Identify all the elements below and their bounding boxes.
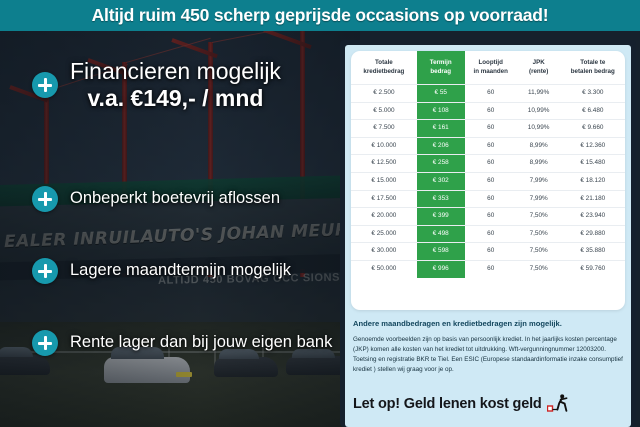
table-cell: € 50.000 (351, 260, 417, 277)
table-cell: 7,50% (517, 260, 561, 277)
table-cell: 7,50% (517, 225, 561, 243)
table-row: € 20.000€ 399607,50%€ 23.940 (351, 208, 625, 226)
table-cell: € 258 (417, 155, 465, 173)
table-cell: 7,99% (517, 172, 561, 190)
benefits-list: Financieren mogelijk v.a. €149,- / mnd O… (0, 31, 348, 427)
table-cell: € 206 (417, 137, 465, 155)
finance-panel-inner: Totalekredietbedrag Termijnbedrag Loopti… (345, 45, 631, 427)
benefit-item-2: Lagere maandtermijn mogelijk (32, 258, 291, 284)
benefit-label: Onbeperkt boetevrij aflossen (70, 189, 280, 208)
table-cell: 60 (465, 225, 517, 243)
benefit-item-1: Onbeperkt boetevrij aflossen (32, 186, 280, 212)
table-cell: € 7.500 (351, 120, 417, 138)
hero-line-2: v.a. €149,- / mnd (70, 85, 281, 112)
disclaimer-body: Genoemde voorbeelden zijn op basis van p… (353, 335, 625, 376)
headline-text: Altijd ruim 450 scherp geprijsde occasio… (92, 5, 549, 26)
table-cell: 60 (465, 208, 517, 226)
credit-warning: Let op! Geld lenen kost geld (353, 394, 625, 413)
col-header-total-payable: Totale tebetalen bedrag (561, 51, 625, 84)
table-cell: 60 (465, 243, 517, 261)
credit-warning-text: Let op! Geld lenen kost geld (353, 396, 542, 412)
table-row: € 7.500€ 1616010,99%€ 9.660 (351, 120, 625, 138)
table-cell: 11,99% (517, 84, 561, 102)
hero-benefit: Financieren mogelijk v.a. €149,- / mnd (32, 58, 281, 112)
benefit-label: Lagere maandtermijn mogelijk (70, 261, 291, 280)
table-cell: € 15.000 (351, 172, 417, 190)
benefit-label: Rente lager dan bij jouw eigen bank (70, 333, 332, 352)
table-cell: € 161 (417, 120, 465, 138)
table-cell: 7,50% (517, 243, 561, 261)
table-row: € 12.500€ 258608,99%€ 15.480 (351, 155, 625, 173)
table-cell: 60 (465, 190, 517, 208)
table-cell: € 30.000 (351, 243, 417, 261)
table-row: € 17.500€ 353607,99%€ 21.180 (351, 190, 625, 208)
table-cell: € 6.480 (561, 102, 625, 120)
table-cell: € 598 (417, 243, 465, 261)
table-cell: € 302 (417, 172, 465, 190)
table-cell: 60 (465, 155, 517, 173)
table-row: € 5.000€ 1086010,99%€ 6.480 (351, 102, 625, 120)
table-cell: 60 (465, 120, 517, 138)
table-cell: 7,99% (517, 190, 561, 208)
table-cell: € 23.940 (561, 208, 625, 226)
table-cell: 10,99% (517, 120, 561, 138)
table-cell: € 12.500 (351, 155, 417, 173)
table-cell: 60 (465, 137, 517, 155)
rate-table-body: € 2.500€ 556011,99%€ 3.300€ 5.000€ 10860… (351, 84, 625, 277)
table-cell: € 59.760 (561, 260, 625, 277)
plus-icon (32, 72, 58, 98)
table-cell: 60 (465, 172, 517, 190)
table-cell: € 5.000 (351, 102, 417, 120)
table-cell: € 9.660 (561, 120, 625, 138)
benefit-item-3: Rente lager dan bij jouw eigen bank (32, 330, 332, 356)
disclaimer-block: Andere maandbedragen en kredietbedragen … (353, 319, 625, 376)
plus-icon (32, 258, 58, 284)
table-cell: 8,99% (517, 137, 561, 155)
hero-benefit-text: Financieren mogelijk v.a. €149,- / mnd (70, 58, 281, 112)
table-row: € 50.000€ 996607,50%€ 59.760 (351, 260, 625, 277)
table-header-row: Totalekredietbedrag Termijnbedrag Loopti… (351, 51, 625, 84)
ad-banner-root: EALER INRUILAUTO'S JOHAN MEURE ALTIJD 45… (0, 0, 640, 427)
table-cell: 10,99% (517, 102, 561, 120)
table-cell: € 18.120 (561, 172, 625, 190)
finance-panel: Totalekredietbedrag Termijnbedrag Loopti… (340, 40, 636, 427)
table-cell: € 55 (417, 84, 465, 102)
table-cell: € 3.300 (561, 84, 625, 102)
table-row: € 15.000€ 302607,99%€ 18.120 (351, 172, 625, 190)
table-row: € 25.000€ 498607,50%€ 29.880 (351, 225, 625, 243)
table-cell: € 996 (417, 260, 465, 277)
hero-line-1: Financieren mogelijk (70, 58, 281, 85)
rate-table: Totalekredietbedrag Termijnbedrag Loopti… (351, 51, 625, 278)
table-cell: € 17.500 (351, 190, 417, 208)
col-header-total-credit: Totalekredietbedrag (351, 51, 417, 84)
plus-icon (32, 186, 58, 212)
table-row: € 30.000€ 598607,50%€ 35.880 (351, 243, 625, 261)
table-cell: 60 (465, 102, 517, 120)
disclaimer-title: Andere maandbedragen en kredietbedragen … (353, 319, 625, 329)
table-cell: € 498 (417, 225, 465, 243)
table-cell: € 108 (417, 102, 465, 120)
table-cell: € 353 (417, 190, 465, 208)
table-cell: € 15.480 (561, 155, 625, 173)
table-cell: € 2.500 (351, 84, 417, 102)
col-header-term-amount: Termijnbedrag (417, 51, 465, 84)
table-cell: € 25.000 (351, 225, 417, 243)
table-cell: 8,99% (517, 155, 561, 173)
ball-and-chain-runner-icon (547, 394, 569, 413)
table-cell: € 21.180 (561, 190, 625, 208)
table-row: € 10.000€ 206608,99%€ 12.360 (351, 137, 625, 155)
table-cell: € 35.880 (561, 243, 625, 261)
table-cell: 60 (465, 84, 517, 102)
headline-banner: Altijd ruim 450 scherp geprijsde occasio… (0, 0, 640, 31)
table-row: € 2.500€ 556011,99%€ 3.300 (351, 84, 625, 102)
table-cell: 7,50% (517, 208, 561, 226)
table-cell: € 12.360 (561, 137, 625, 155)
plus-icon (32, 330, 58, 356)
col-header-duration: Looptijdin maanden (465, 51, 517, 84)
table-cell: € 29.880 (561, 225, 625, 243)
table-cell: € 399 (417, 208, 465, 226)
table-cell: € 20.000 (351, 208, 417, 226)
table-cell: 60 (465, 260, 517, 277)
rate-table-card: Totalekredietbedrag Termijnbedrag Loopti… (351, 51, 625, 310)
table-cell: € 10.000 (351, 137, 417, 155)
col-header-jpk: JPK(rente) (517, 51, 561, 84)
